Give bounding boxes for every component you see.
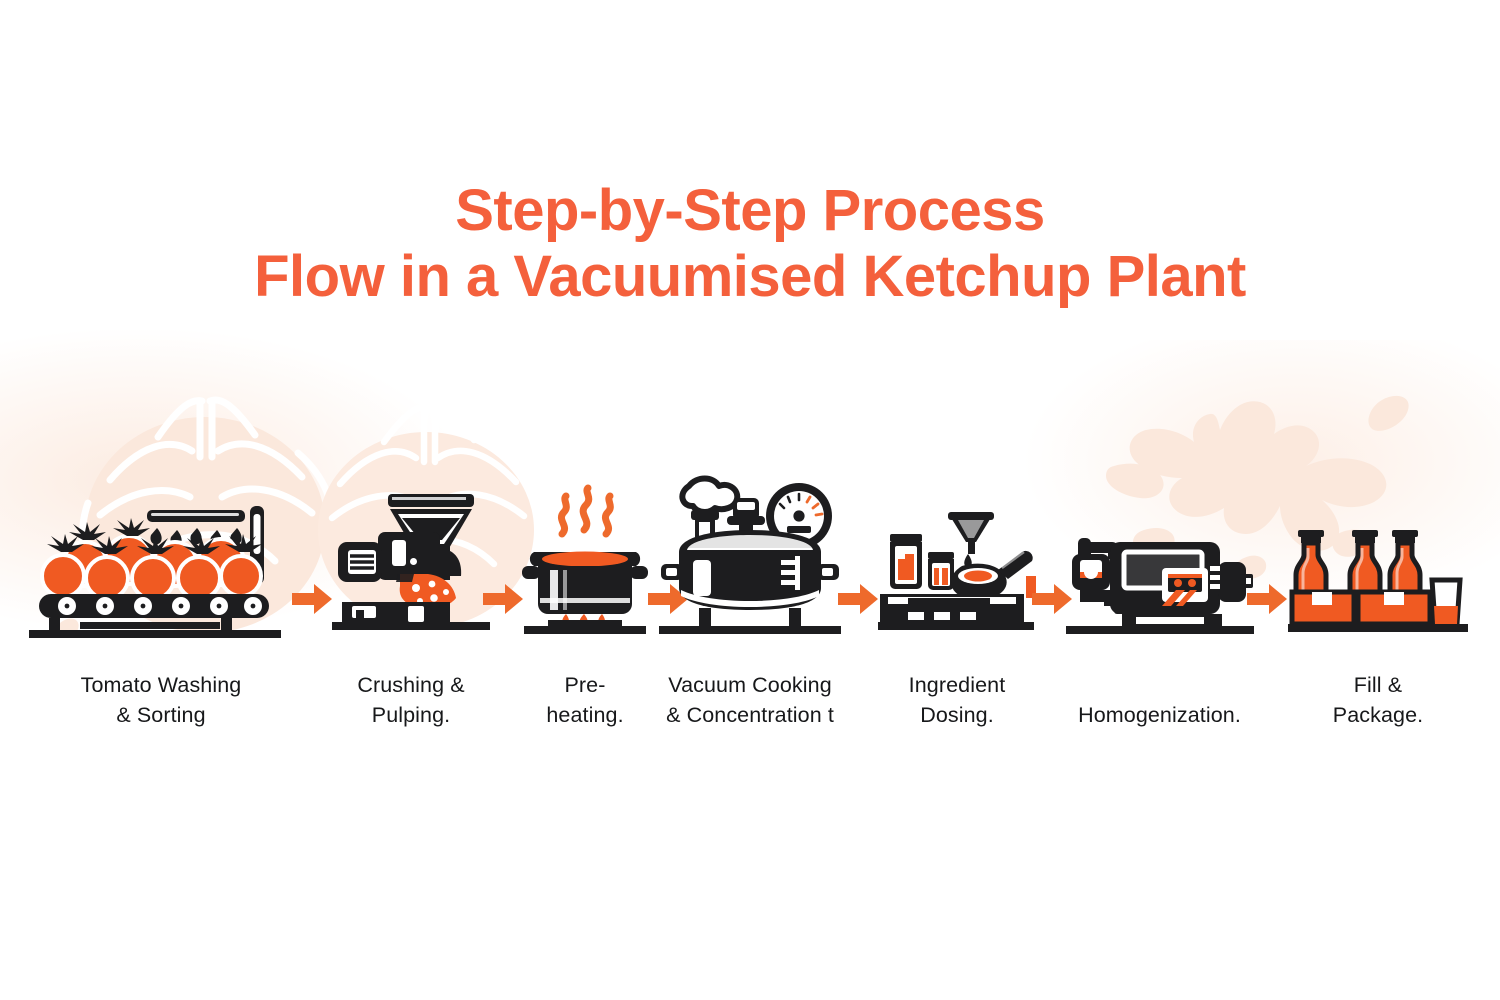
homogenizer-icon: [1062, 512, 1257, 638]
title-line-2: Flow in a Vacuumised Ketchup Plant: [0, 244, 1500, 310]
flow-step-7-label: Fill & Package.: [1288, 670, 1468, 730]
process-flow: Tomato Washing & Sorting: [0, 470, 1500, 730]
flow-step-3-label: Pre- heating.: [520, 670, 650, 730]
infographic-canvas: Step-by-Step Process Flow in a Vacuumise…: [0, 0, 1500, 1000]
crusher-pulper-icon: [330, 488, 492, 638]
page-title: Step-by-Step Process Flow in a Vacuumise…: [0, 178, 1500, 310]
flow-step-4-label: Vacuum Cooking & Concentration t: [655, 670, 845, 730]
arrow-right-block-icon: [838, 584, 878, 614]
preheating-pot-icon: [520, 490, 650, 638]
title-line-1: Step-by-Step Process: [0, 178, 1500, 244]
flow-step-1-label: Tomato Washing & Sorting: [25, 670, 297, 730]
arrow-right-block-icon: [1247, 584, 1287, 614]
flow-step-5-label: Ingredient Dosing.: [878, 670, 1036, 730]
ingredient-dosing-icon: [878, 488, 1036, 638]
fill-package-icon: [1288, 512, 1468, 638]
tomato-washing-conveyor-icon: [25, 498, 297, 638]
flow-step-2-label: Crushing & Pulping.: [330, 670, 492, 730]
arrow-right-block-icon: [483, 584, 523, 614]
vacuum-cooker-icon: [655, 468, 845, 638]
arrow-right-block-icon: [292, 584, 332, 614]
flow-step-6-label: Homogenization.: [1062, 700, 1257, 730]
